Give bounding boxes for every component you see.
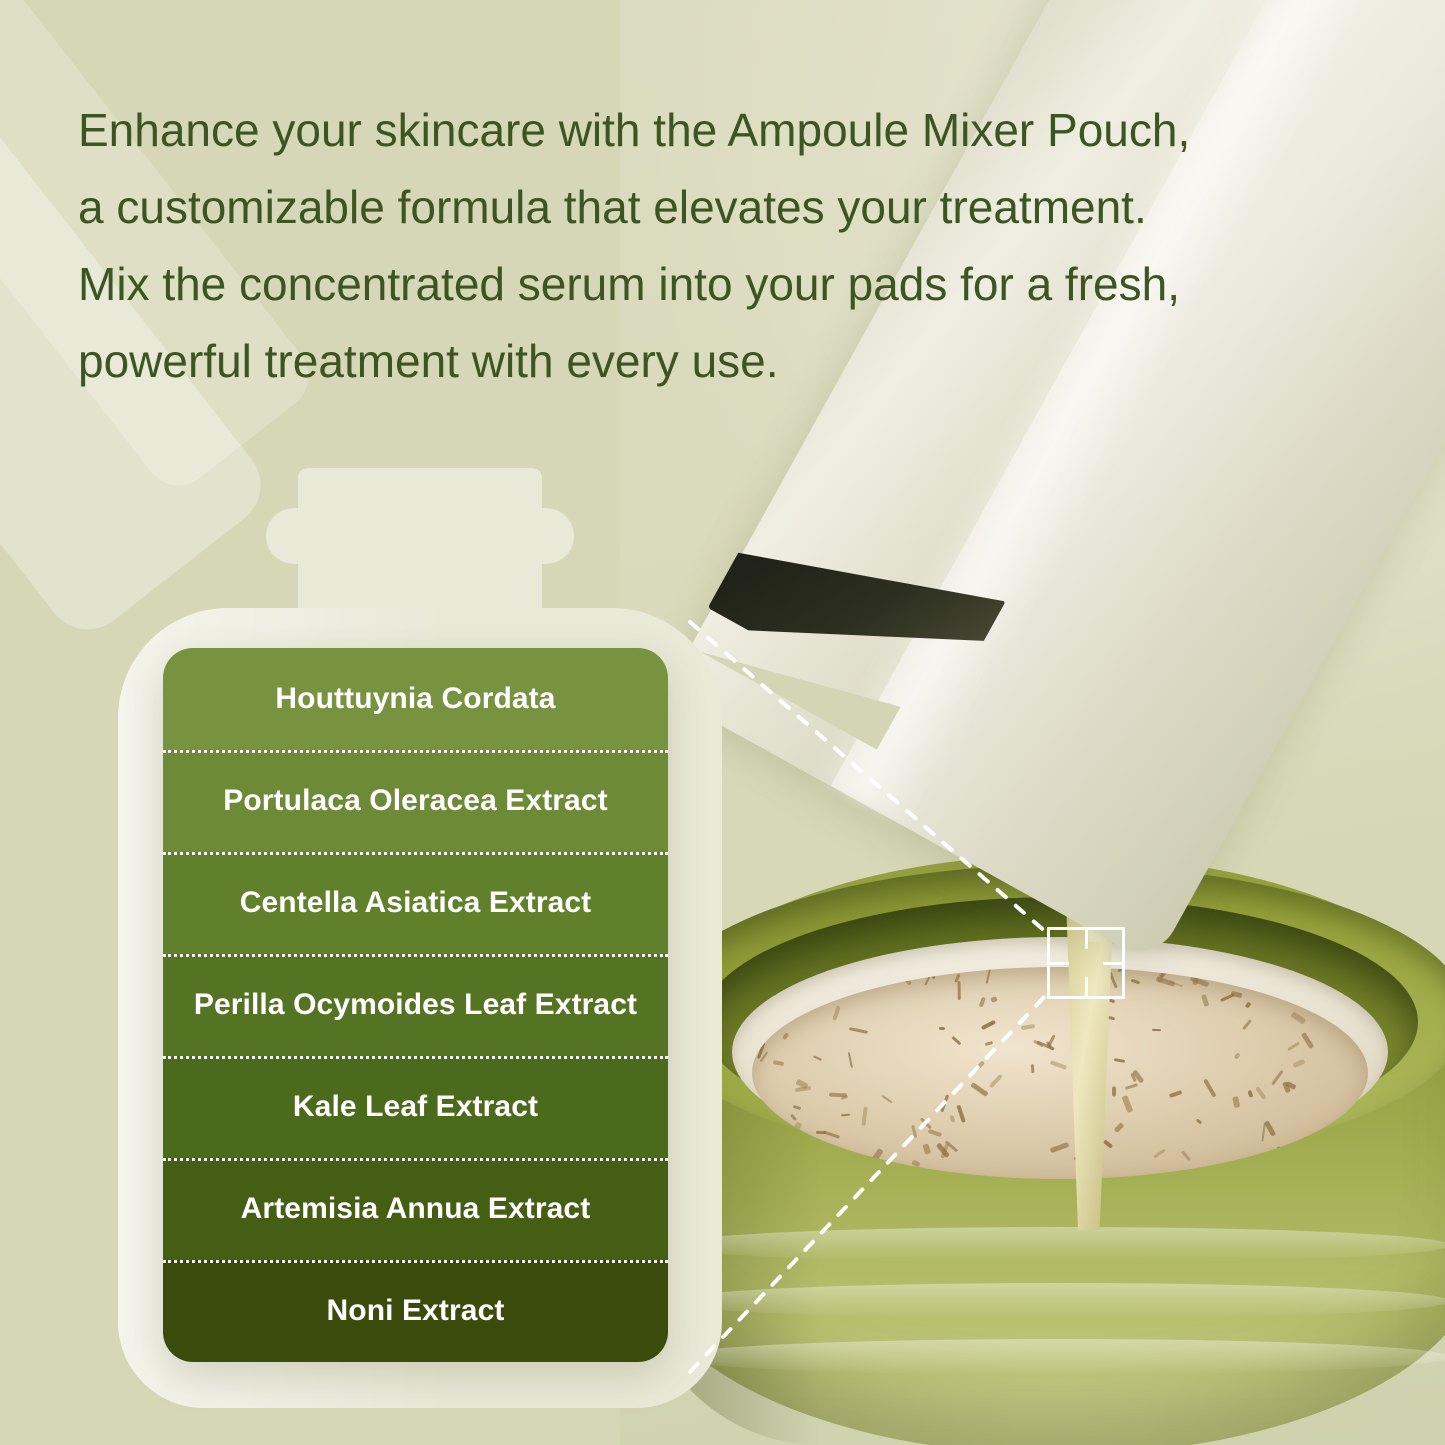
herb-particle [958, 981, 961, 1000]
ingredient-label: Centella Asiatica Extract [240, 886, 592, 920]
herb-particle [1234, 1052, 1240, 1059]
herb-particle [920, 1117, 932, 1129]
herb-particle [862, 1106, 868, 1126]
jar-groove [670, 1339, 1445, 1375]
herb-particle [1232, 1096, 1240, 1108]
marketing-banner: Enhance your skincare with the Ampoule M… [0, 0, 1445, 1445]
ingredient-row: Houttuynia Cordata [163, 648, 668, 750]
herb-particle [1201, 994, 1210, 1007]
viewfinder-frame-icon [1047, 927, 1125, 999]
ingredient-row: Portulaca Oleracea Extract [163, 750, 668, 852]
herb-particle [971, 1082, 989, 1097]
herb-particle [970, 1061, 985, 1075]
herb-particle [979, 996, 986, 1007]
herb-particle [1153, 1148, 1166, 1158]
herb-particle [981, 1020, 996, 1030]
herb-particle [928, 1129, 942, 1137]
herb-particle [956, 1105, 965, 1124]
ingredient-label: Noni Extract [327, 1294, 505, 1328]
herb-particle [792, 1105, 801, 1110]
ingredient-label: Perilla Ocymoides Leaf Extract [194, 988, 637, 1022]
herb-particle [1292, 1059, 1304, 1068]
herb-particle [847, 1052, 853, 1069]
herb-particle [795, 1085, 812, 1091]
ingredient-row: Kale Leaf Extract [163, 1056, 668, 1158]
herb-particle [1291, 1011, 1307, 1024]
ingredient-row: Noni Extract [163, 1260, 668, 1362]
herb-particle [912, 1159, 921, 1167]
herb-particle [1242, 1019, 1252, 1030]
herb-particle [1152, 1029, 1161, 1032]
herb-particle [1255, 1086, 1266, 1099]
herb-particle [881, 1095, 892, 1103]
herb-particle [1264, 1121, 1276, 1137]
ingredient-row: Artemisia Annua Extract [163, 1158, 668, 1260]
ingredient-label: Artemisia Annua Extract [241, 1192, 591, 1226]
herb-particle [939, 1026, 945, 1029]
herb-particle [985, 1041, 993, 1046]
herb-particle [1196, 1118, 1203, 1124]
herb-particle [773, 1060, 784, 1066]
herb-particle [1301, 1032, 1314, 1049]
herb-particle [1155, 976, 1175, 986]
jar-groove [670, 1227, 1445, 1263]
herb-particle [1204, 1078, 1217, 1097]
herb-particle [790, 1113, 797, 1120]
page-title: Enhance your skincare with the Ampoule M… [78, 92, 1398, 400]
herb-particle [951, 1036, 961, 1045]
herb-particle [1248, 1090, 1254, 1098]
herb-particle [912, 1125, 918, 1138]
herb-particle [950, 1115, 956, 1123]
herb-particle [1181, 1150, 1191, 1161]
ingredient-label: Houttuynia Cordata [275, 682, 555, 716]
ingredient-row: Centella Asiatica Extract [163, 852, 668, 954]
herb-particle [841, 1114, 850, 1117]
herb-particle [1220, 993, 1235, 1002]
ingredient-label: Kale Leaf Extract [293, 1090, 538, 1124]
ingredient-list: Houttuynia CordataPortulaca Oleracea Ext… [163, 648, 668, 1362]
jar-groove [670, 1283, 1445, 1319]
ingredient-label: Portulaca Oleracea Extract [223, 784, 607, 818]
herb-particle [849, 1027, 868, 1034]
herb-particle [941, 1095, 950, 1113]
herb-particle [1169, 1090, 1183, 1098]
herb-particle [793, 1121, 802, 1131]
herb-particle [829, 1092, 847, 1097]
herb-particle [1287, 1042, 1299, 1051]
herb-particle [986, 967, 993, 984]
herb-particle [782, 1032, 790, 1040]
herb-particle [990, 996, 997, 1003]
herb-particle [832, 1005, 841, 1021]
herb-particle [813, 1056, 822, 1062]
herb-particle [922, 1143, 931, 1154]
herb-particle [1262, 1123, 1267, 1142]
ingredient-row: Perilla Ocymoides Leaf Extract [163, 954, 668, 1056]
herb-particle [1245, 1002, 1252, 1009]
herb-particle [989, 1074, 1003, 1089]
